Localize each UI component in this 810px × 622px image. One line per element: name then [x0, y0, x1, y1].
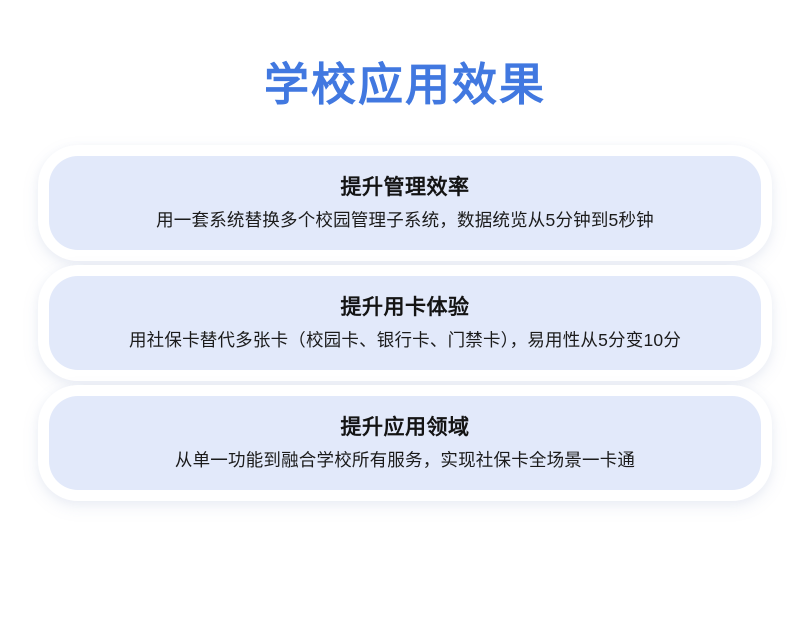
effect-card-description: 从单一功能到融合学校所有服务，实现社保卡全场景一卡通	[175, 447, 635, 474]
page-title: 学校应用效果	[0, 56, 810, 114]
school-application-effects-page: 学校应用效果 提升管理效率 用一套系统替换多个校园管理子系统，数据统览从5分钟到…	[0, 0, 810, 622]
effect-card-description: 用社保卡替代多张卡（校园卡、银行卡、门禁卡），易用性从5分变10分	[129, 327, 681, 354]
effect-card-management-efficiency: 提升管理效率 用一套系统替换多个校园管理子系统，数据统览从5分钟到5秒钟	[49, 156, 761, 250]
effect-card-title: 提升用卡体验	[341, 293, 470, 323]
effect-card-title: 提升管理效率	[341, 173, 470, 203]
effect-card-title: 提升应用领域	[341, 413, 470, 443]
effect-card-description: 用一套系统替换多个校园管理子系统，数据统览从5分钟到5秒钟	[156, 207, 654, 234]
effect-card-application-scope: 提升应用领域 从单一功能到融合学校所有服务，实现社保卡全场景一卡通	[49, 396, 761, 490]
effects-card-list: 提升管理效率 用一套系统替换多个校园管理子系统，数据统览从5分钟到5秒钟 提升用…	[0, 156, 810, 490]
effect-card-card-experience: 提升用卡体验 用社保卡替代多张卡（校园卡、银行卡、门禁卡），易用性从5分变10分	[49, 276, 761, 370]
